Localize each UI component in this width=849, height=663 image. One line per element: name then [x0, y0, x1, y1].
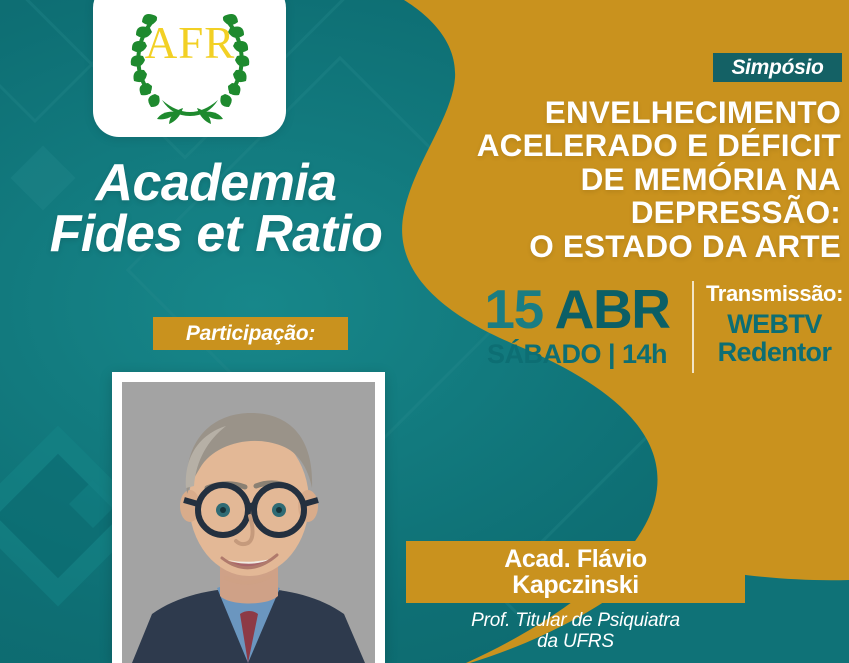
- event-date-month: ABR: [543, 278, 670, 340]
- speaker-name-line1: Acad. Flávio: [504, 546, 646, 573]
- laurel-wreath-icon: AFR: [115, 0, 265, 124]
- event-title-line-4: DEPRESSÃO:: [421, 196, 841, 229]
- event-title-line-5: O ESTADO DA ARTE: [421, 230, 841, 263]
- event-date-main: 15 ABR: [462, 282, 692, 337]
- speaker-name-bar: Acad. Flávio Kapczinski: [406, 541, 745, 603]
- event-date-day: 15: [484, 278, 542, 340]
- participation-label: Participação:: [186, 322, 315, 346]
- speaker-name-line2: Kapczinski: [512, 572, 639, 599]
- speaker-photo-frame: [112, 372, 385, 663]
- broadcast-channel-line1: WEBTV: [700, 310, 849, 339]
- event-date: 15 ABR SÁBADO | 14h: [462, 282, 692, 368]
- vertical-divider: [692, 281, 694, 373]
- academy-logo: AFR: [93, 0, 286, 137]
- event-kind-label: Simpósio: [731, 56, 823, 80]
- participation-badge: Participação:: [153, 317, 348, 350]
- event-poster: AFR Academia Fides et Ratio Participação…: [0, 0, 849, 663]
- event-date-weekday-time: SÁBADO | 14h: [462, 341, 692, 368]
- event-title-line-1: ENVELHECIMENTO: [421, 96, 841, 129]
- logo-monogram: AFR: [144, 18, 235, 68]
- broadcast-channel: WEBTV Redentor: [700, 310, 849, 367]
- event-kind-badge: Simpósio: [713, 53, 842, 82]
- academy-name-line2: Fides et Ratio: [6, 209, 426, 260]
- event-title-line-3: DE MEMÓRIA NA: [421, 163, 841, 196]
- speaker-role-line1: Prof. Titular de Psiquiatra: [406, 611, 745, 632]
- event-title: ENVELHECIMENTO ACELERADO E DÉFICIT DE ME…: [421, 96, 841, 263]
- broadcast-label: Transmissão:: [700, 282, 849, 307]
- event-title-line-2: ACELERADO E DÉFICIT: [421, 129, 841, 162]
- speaker-role: Prof. Titular de Psiquiatra da UFRS: [406, 611, 745, 653]
- speaker-portrait: [122, 382, 375, 663]
- academy-name-line1: Academia: [96, 154, 337, 212]
- broadcast-channel-line2: Redentor: [700, 338, 849, 367]
- speaker-role-line2: da UFRS: [406, 632, 745, 653]
- broadcast-info: Transmissão: WEBTV Redentor: [700, 282, 849, 367]
- academy-name: Academia Fides et Ratio: [6, 158, 426, 261]
